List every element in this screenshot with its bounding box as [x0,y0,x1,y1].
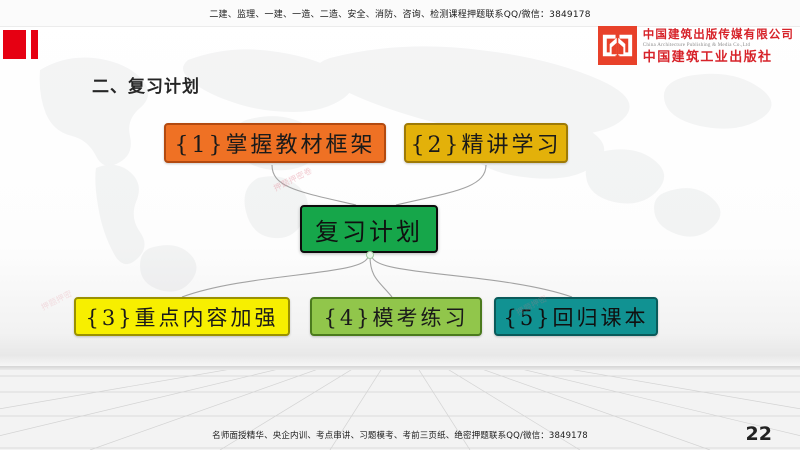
open-book-logo-icon [598,26,637,65]
slide-title: 二、复习计划 [92,72,200,97]
slide-canvas: 二建、监理、一建、一造、二造、安全、消防、咨询、检测课程押题联系QQ/微信：38… [0,0,800,450]
logo-company-en: China Architecture Publishing & Media Co… [643,43,794,48]
node-grasp-textbook-framework[interactable]: {1}掌握教材框架 [164,123,386,163]
node-label: {3}重点内容加强 [85,302,278,332]
node-label: {4}模考练习 [323,302,468,332]
footer-banner: 名师面授精华、央企内训、考点串讲、习题模考、考前三页纸、绝密押题联系QQ/微信：… [0,426,800,444]
publisher-logo: 中国建筑出版传媒有限公司 China Architecture Publishi… [598,26,794,65]
node-label: 复习计划 [315,212,423,247]
logo-text-block: 中国建筑出版传媒有限公司 China Architecture Publishi… [643,28,794,64]
node-intensive-study[interactable]: {2}精讲学习 [404,123,568,163]
page-number: 22 [746,423,772,445]
top-banner: 二建、监理、一建、一造、二造、安全、消防、咨询、检测课程押题联系QQ/微信：38… [0,0,800,27]
red-block-small [31,30,38,59]
node-label: {1}掌握教材框架 [175,127,376,159]
red-block-large [3,30,26,59]
logo-company-cn: 中国建筑出版传媒有限公司 [643,29,794,41]
node-mock-exam-practice[interactable]: {4}模考练习 [310,297,482,336]
top-banner-text: 二建、监理、一建、一造、二造、安全、消防、咨询、检测课程押题联系QQ/微信：38… [209,7,590,20]
node-review-plan-center[interactable]: 复习计划 [300,205,438,253]
red-decor-blocks [3,30,38,59]
connector-junction-dot [366,251,374,259]
node-key-content-reinforcement[interactable]: {3}重点内容加强 [74,297,290,336]
node-label: {2}精讲学习 [411,127,562,159]
node-label: {5}回归课本 [503,302,648,332]
logo-press-cn: 中国建筑工业出版社 [643,51,794,64]
node-return-to-textbook[interactable]: {5}回归课本 [494,297,658,336]
footer-text: 名师面授精华、央企内训、考点串讲、习题模考、考前三页纸、绝密押题联系QQ/微信：… [212,429,588,441]
mind-map-diagram: {1}掌握教材框架 {2}精讲学习 复习计划 {3}重点内容加强 {4}模考练习… [0,0,800,450]
